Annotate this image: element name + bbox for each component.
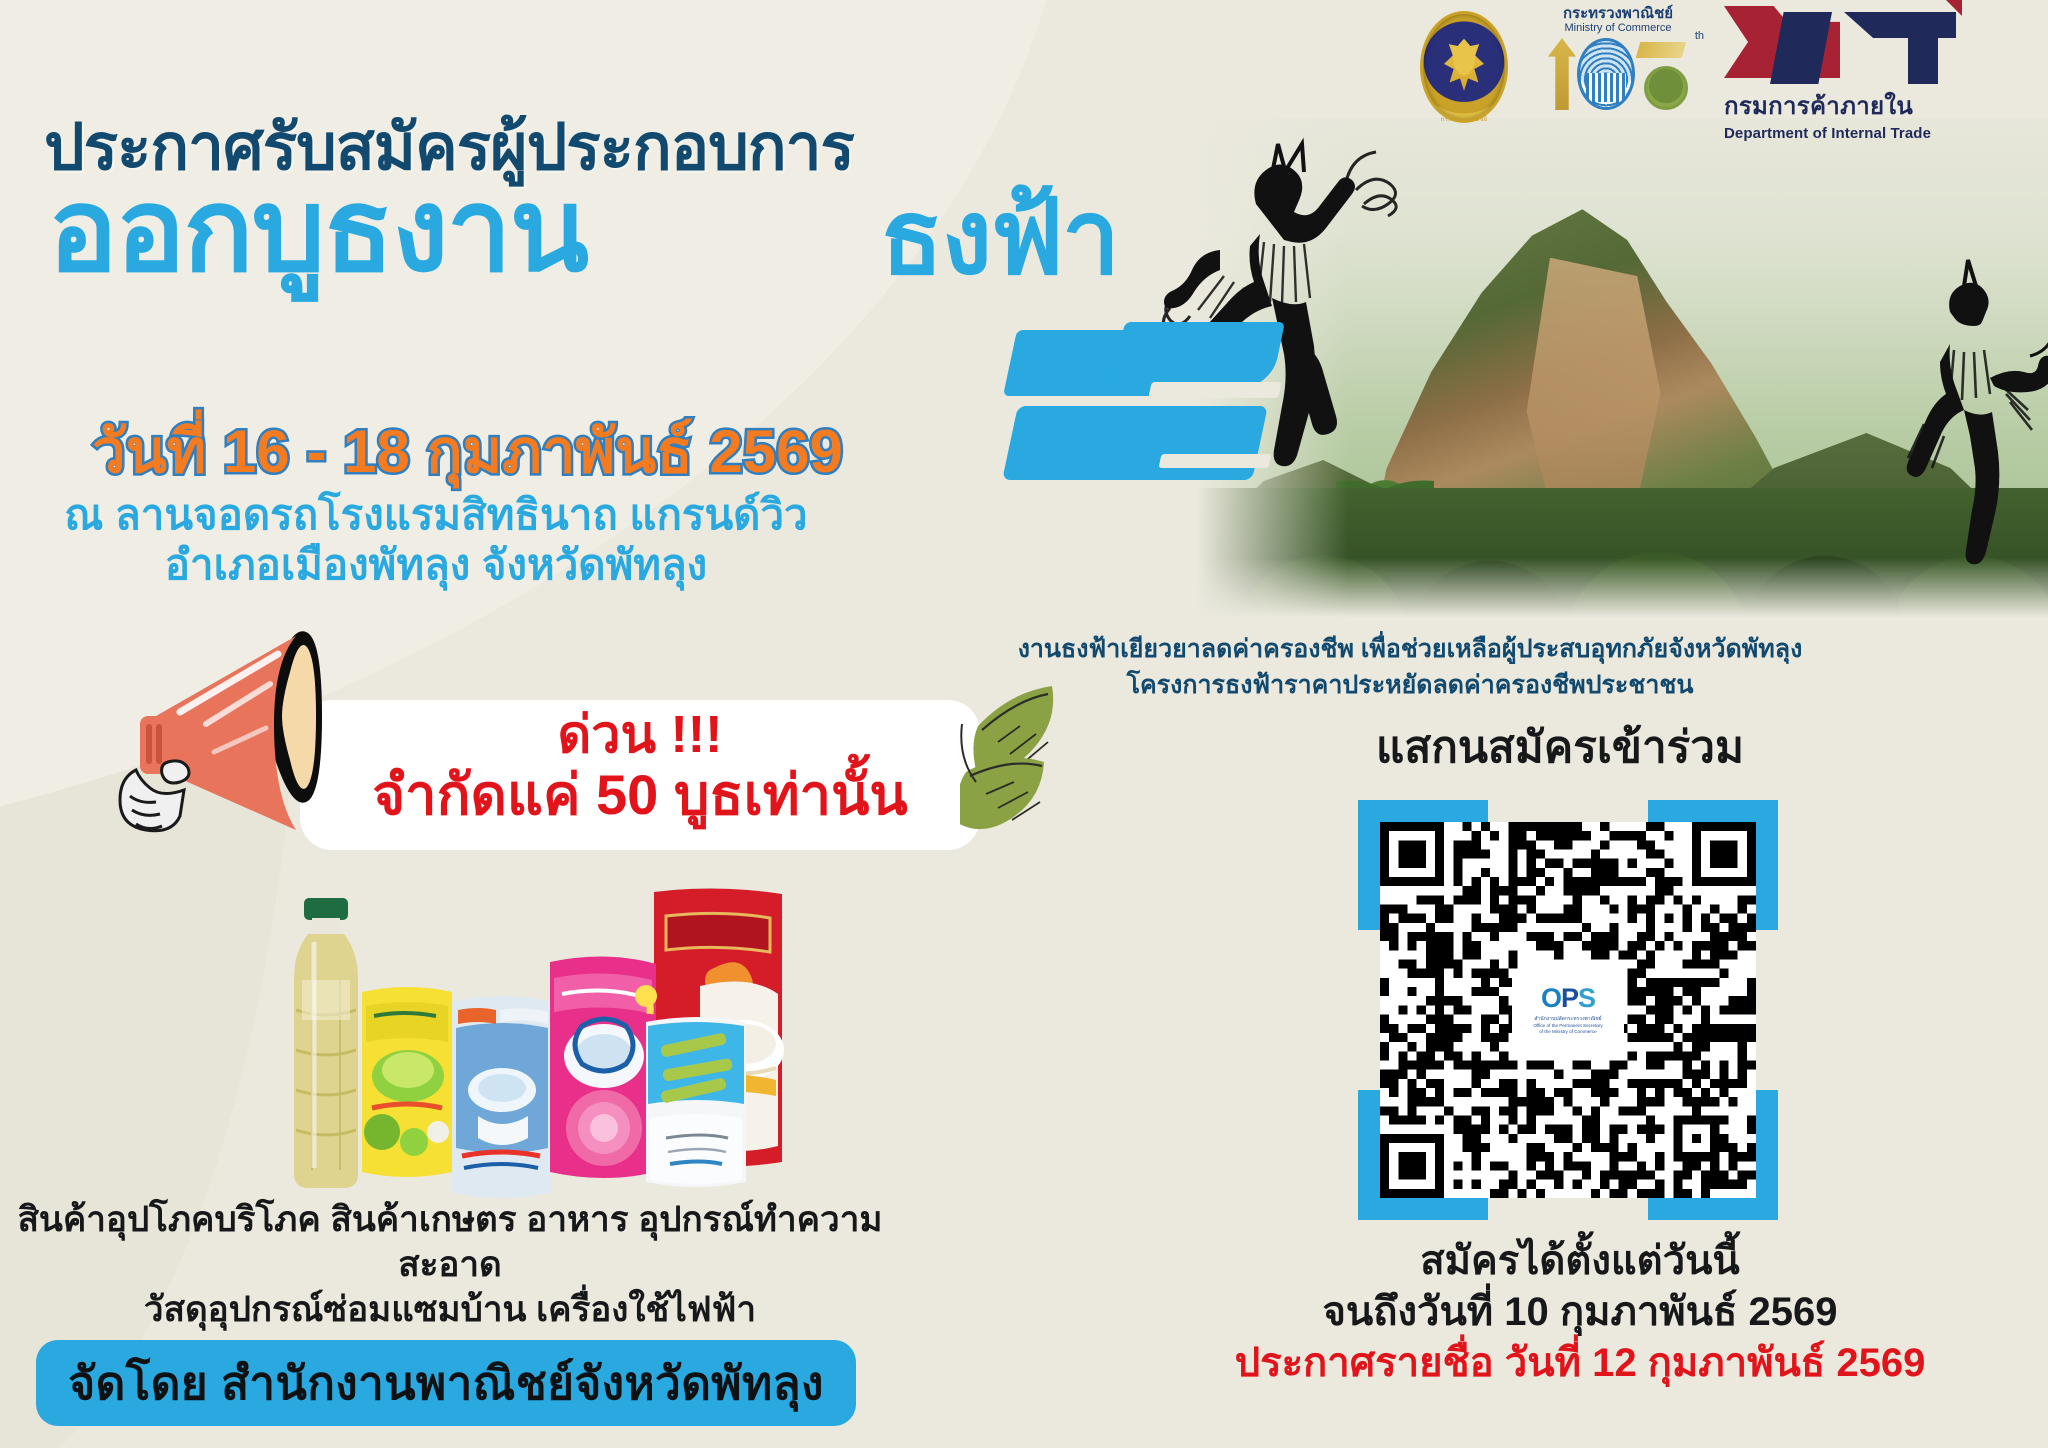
- main-heading: ออกบูธงาน: [48, 172, 587, 288]
- cooking-oil-bottle: [294, 898, 358, 1188]
- anniversary-digit-5: [1636, 42, 1688, 110]
- fabric-softener-pouch: [550, 956, 657, 1178]
- ops-thai-label: สำนักงานปลัดกระทรวงพาณิชย์: [1534, 1015, 1601, 1023]
- venue-line-2: อำเภอเมืองพัทลุง จังหวัดพัทลุง: [56, 540, 816, 590]
- thongfa-logo-mark-icon: [1010, 330, 1290, 490]
- urgent-line-2: จำกัดแค่ 50 บูธเท่านั้น: [300, 764, 980, 827]
- refined-sugar-pack: [646, 1017, 746, 1187]
- poster-canvas: กระทรวงพาณิชย์ กระทรวงพาณิชย์ Ministry o…: [0, 0, 2048, 1448]
- ops-logo: OPS สำนักงานปลัดกระทรวงพาณิชย์ Office of…: [1514, 972, 1622, 1048]
- venue-address: ณ ลานจอดรถโรงแรมสิทธินาถ แกรนด์วิว อำเภอ…: [56, 490, 816, 589]
- ministry-seal-icon: กระทรวงพาณิชย์: [1416, 6, 1512, 128]
- toilet-cleaner-pouch: [452, 996, 552, 1198]
- anniversary-english-label: Ministry of Commerce: [1565, 22, 1672, 35]
- ministry-seal-caption: กระทรวงพาณิชย์: [1416, 114, 1512, 124]
- anniversary-suffix: th: [1695, 30, 1704, 42]
- dit-english-label: Department of Internal Trade: [1724, 125, 1931, 142]
- ops-english-line-2: of the Ministry of Commerce: [1539, 1029, 1596, 1035]
- scan-title: แสกนสมัครเข้าร่วม: [1180, 712, 1940, 782]
- program-caption-line-2: โครงการธงฟ้าราคาประหยัดลดค่าครองชีพประชา…: [800, 668, 2020, 704]
- dit-logo: กรมการค้าภายใน Department of Internal Tr…: [1724, 6, 2024, 136]
- header-logos: กระทรวงพาณิชย์ กระทรวงพาณิชย์ Ministry o…: [1416, 6, 2024, 136]
- categories-line-2: วัสดุอุปกรณ์ซ่อมแซมบ้าน เครื่องใช้ไฟฟ้า: [0, 1288, 900, 1333]
- program-caption-line-1: งานธงฟ้าเยียวยาลดค่าครองชีพ เพื่อช่วยเหล…: [800, 632, 2020, 668]
- event-date: วันที่ 16 - 18 กุมภาพันธ์ 2569: [92, 404, 843, 499]
- program-caption: งานธงฟ้าเยียวยาลดค่าครองชีพ เพื่อช่วยเหล…: [800, 632, 2020, 703]
- anniversary-105-logo: กระทรวงพาณิชย์ Ministry of Commerce th: [1542, 6, 1694, 134]
- registration-deadline: สมัครได้ตั้งแต่วันนี้ จนถึงวันที่ 10 กุม…: [1130, 1236, 2030, 1390]
- deadline-line-2: จนถึงวันที่ 10 กุมภาพันธ์ 2569: [1130, 1287, 2030, 1338]
- brand-heading-thongfa: ธงฟ้า: [880, 186, 1118, 290]
- organizer-banner: จัดโดย สำนักงานพาณิชย์จังหวัดพัทลุง: [36, 1340, 856, 1426]
- dit-thai-label: กรมการค้าภายใน: [1724, 86, 1913, 125]
- qr-code[interactable]: OPS สำนักงานปลัดกระทรวงพาณิชย์ Office of…: [1358, 800, 1778, 1220]
- venue-line-1: ณ ลานจอดรถโรงแรมสิทธินาถ แกรนด์วิว: [56, 490, 816, 540]
- product-group-image: [262, 870, 822, 1200]
- anniversary-digit-0: [1577, 38, 1635, 110]
- anniversary-thai-label: กระทรวงพาณิชย์: [1563, 6, 1673, 22]
- product-categories: สินค้าอุปโภคบริโภค สินค้าเกษตร อาหาร อุป…: [0, 1198, 900, 1332]
- dishwashing-liquid-pouch: [362, 987, 452, 1177]
- urgent-callout: ด่วน !!! จำกัดแค่ 50 บูธเท่านั้น: [300, 706, 980, 827]
- dancer-silhouette-icon: [1880, 258, 2048, 588]
- ops-acronym: OPS: [1541, 985, 1595, 1012]
- urgent-line-1: ด่วน !!!: [300, 706, 980, 764]
- deadline-line-3: ประกาศรายชื่อ วันที่ 12 กุมภาพันธ์ 2569: [1130, 1338, 2030, 1389]
- anniversary-digit-1: [1548, 38, 1576, 110]
- organizer-label: จัดโดย สำนักงานพาณิชย์จังหวัดพัทลุง: [68, 1347, 824, 1420]
- categories-line-1: สินค้าอุปโภคบริโภค สินค้าเกษตร อาหาร อุป…: [0, 1198, 900, 1288]
- dit-mark-icon: [1724, 6, 1956, 84]
- megaphone-icon: [110, 620, 380, 855]
- deadline-line-1: สมัครได้ตั้งแต่วันนี้: [1130, 1236, 2030, 1287]
